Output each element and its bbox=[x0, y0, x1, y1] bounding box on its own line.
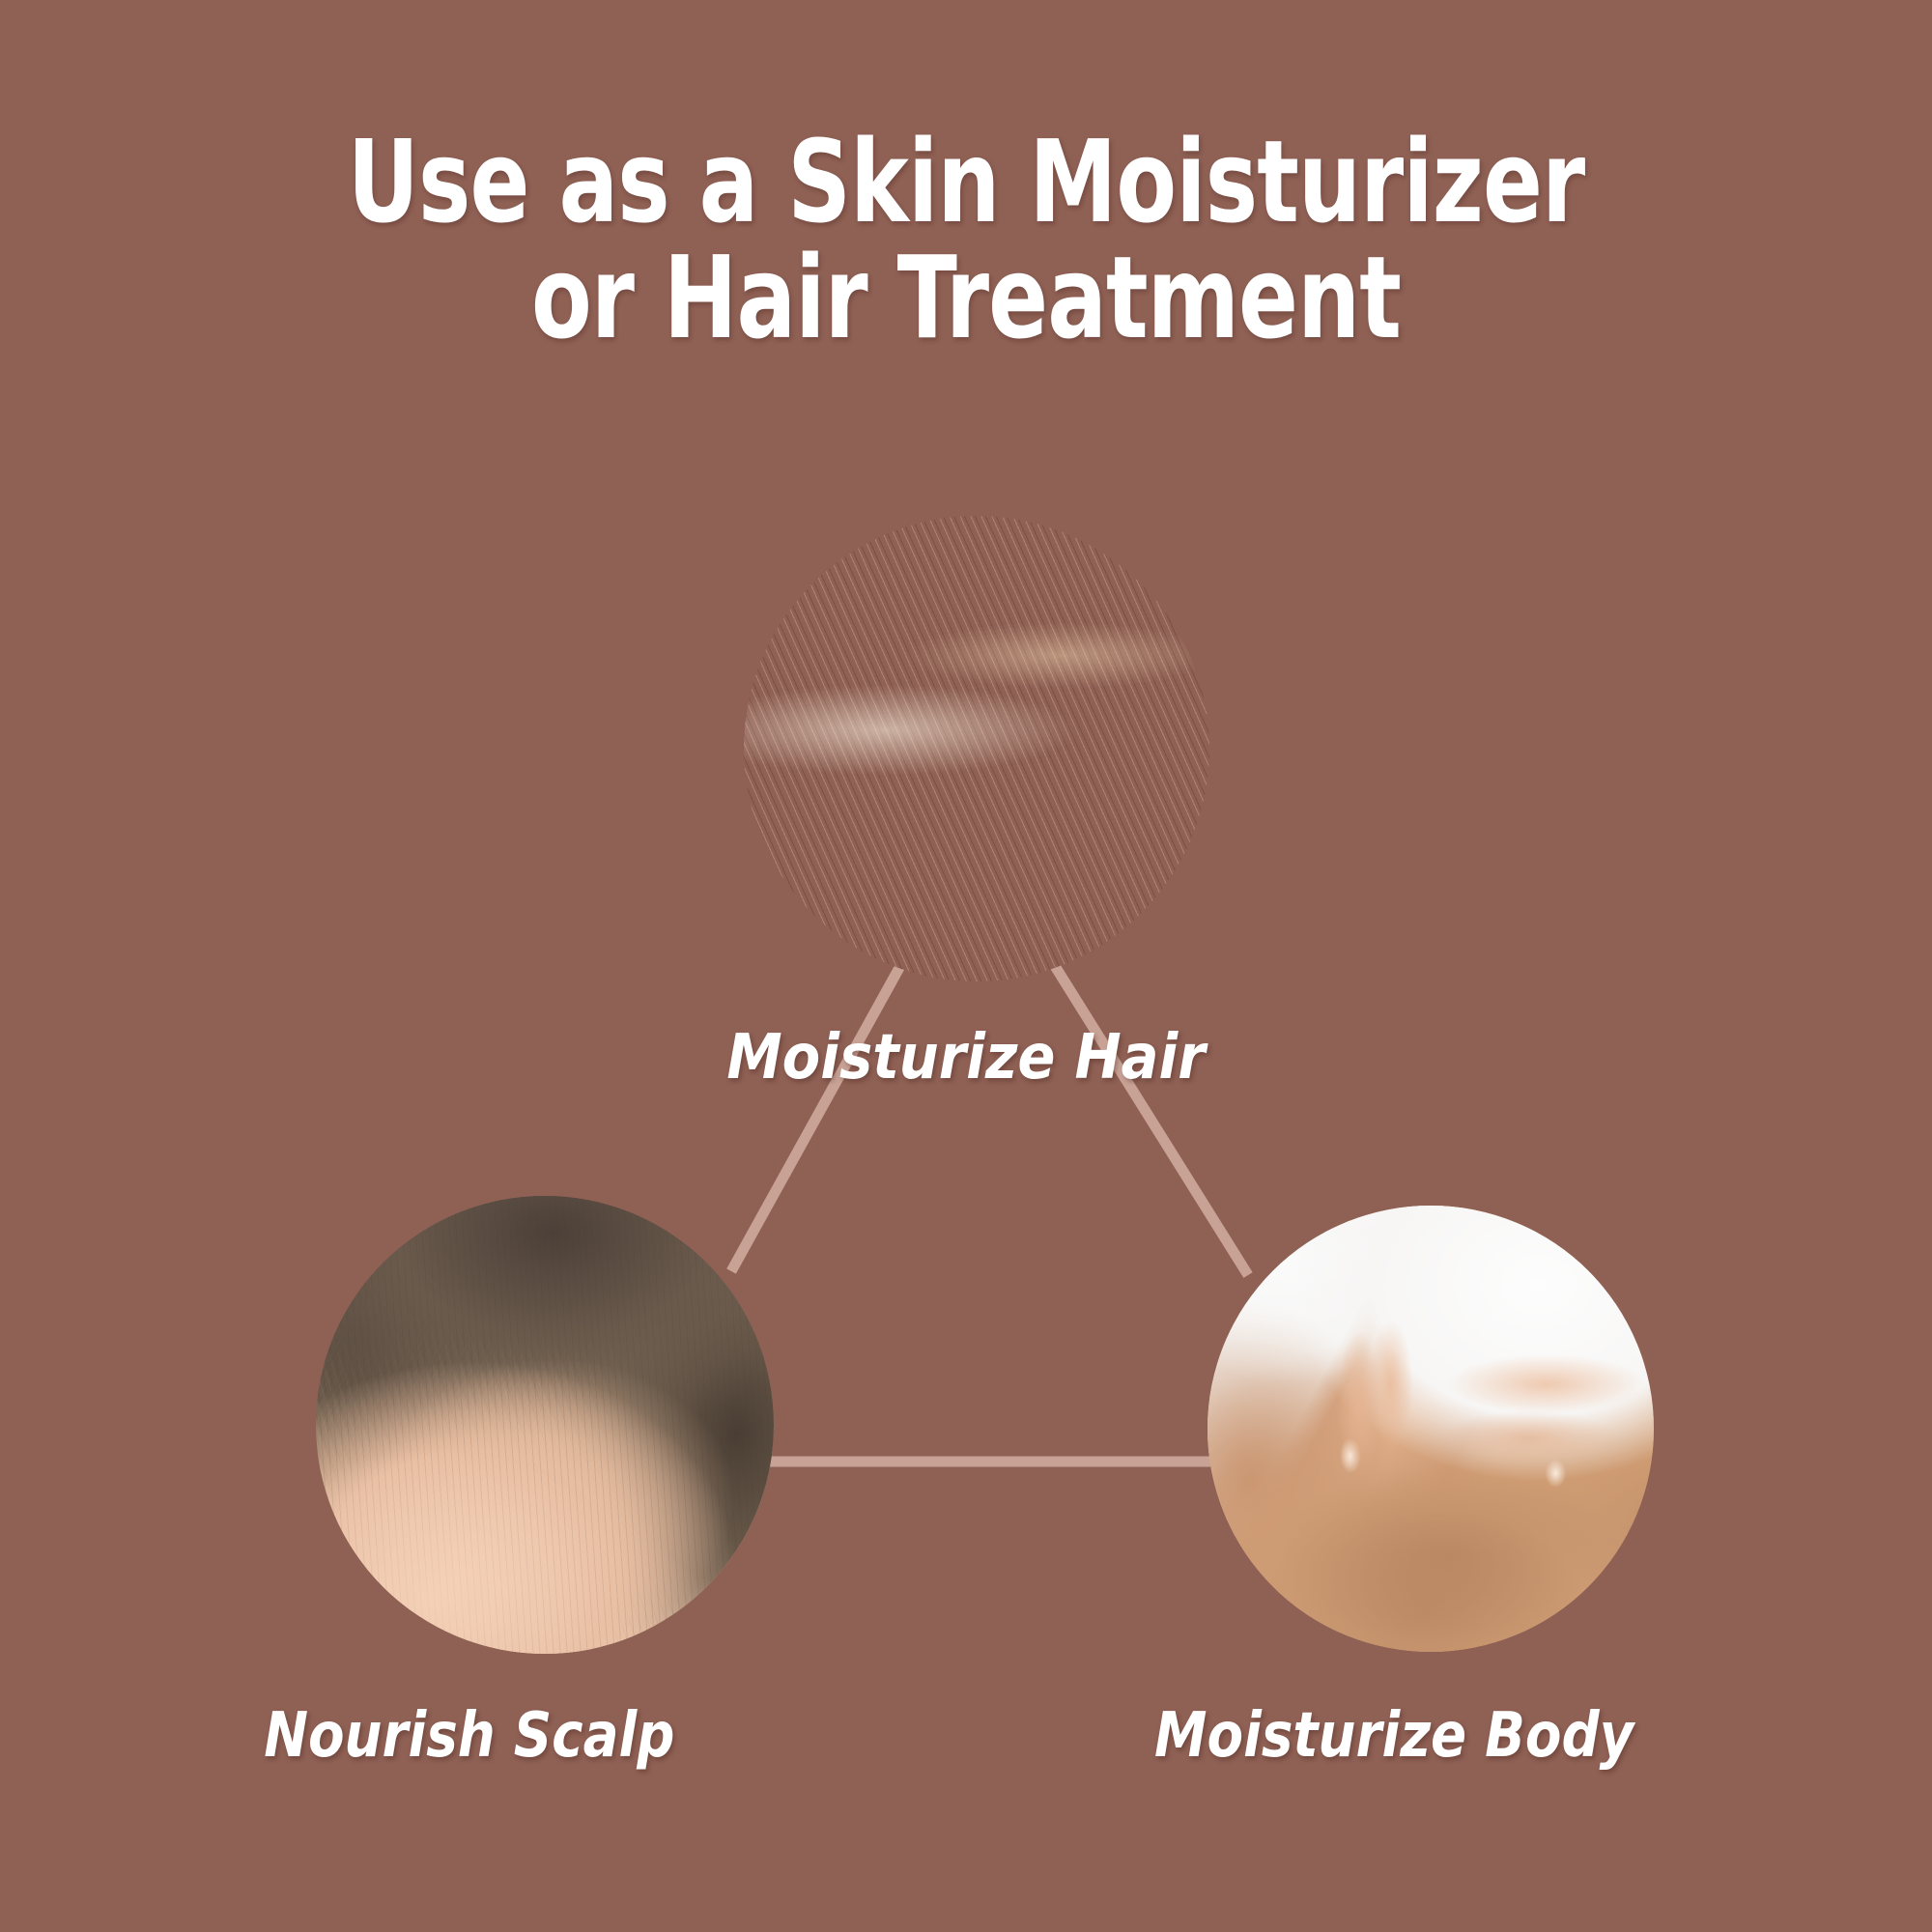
photo-circle-moisturize-hair[interactable] bbox=[744, 516, 1209, 981]
photo-circle-moisturize-body[interactable] bbox=[1207, 1206, 1654, 1652]
infographic-canvas: Use as a Skin Moisturizer or Hair Treatm… bbox=[0, 0, 1932, 1932]
page-title-line-1: Use as a Skin Moisturizer bbox=[135, 124, 1797, 240]
photo-circle-nourish-scalp[interactable] bbox=[316, 1196, 774, 1654]
node-label-nourish-scalp: Nourish Scalp bbox=[264, 1700, 674, 1772]
node-label-moisturize-hair: Moisturize Hair bbox=[0, 1022, 1932, 1094]
hair-shine-overlay bbox=[744, 516, 1209, 981]
body-hand-detail-overlay bbox=[1207, 1206, 1654, 1652]
node-label-moisturize-body: Moisturize Body bbox=[1154, 1700, 1634, 1772]
scalp-skin-overlay bbox=[316, 1196, 774, 1654]
page-title-line-2: or Hair Treatment bbox=[135, 240, 1797, 355]
page-title: Use as a Skin Moisturizer or Hair Treatm… bbox=[135, 124, 1797, 356]
